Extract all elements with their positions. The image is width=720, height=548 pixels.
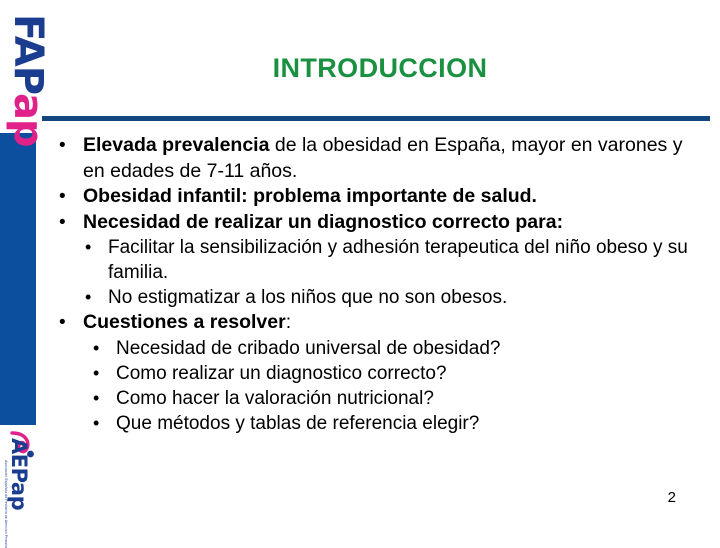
sub-bullet-text: Como realizar un diagnostico correcto?	[116, 363, 447, 384]
page-title: INTRODUCCION	[80, 53, 680, 84]
bullet-text-bold: Obesidad infantil: problema importante d…	[83, 185, 537, 207]
aepap-logo: AEPap Asociación Española de Pediatría d…	[0, 424, 37, 524]
bullet-item: • Necesidad de realizar un diagnostico c…	[48, 210, 708, 236]
bullet-marker: •	[85, 235, 91, 260]
sub-bullet-item: • Como hacer la valoración nutricional?	[81, 386, 708, 411]
bullet-text-regular: :	[286, 311, 291, 333]
bullet-list-level1: • Elevada prevalencia de la obesidad en …	[48, 133, 708, 436]
bullet-text: Cuestiones a resolver:	[83, 310, 708, 336]
bullet-marker: •	[85, 285, 91, 310]
fapap-logo-text-primary: FAP	[5, 14, 51, 93]
bullet-item: • Cuestiones a resolver:	[48, 310, 708, 336]
slide-body: • Elevada prevalencia de la obesidad en …	[48, 133, 708, 436]
fapap-logo: FAPap	[4, 14, 52, 142]
bullet-marker: •	[93, 336, 99, 361]
bullet-marker: •	[59, 184, 66, 210]
bullet-text-bold: Elevada prevalencia	[83, 134, 269, 156]
aepap-logo-subtitle: Asociación Española de Pediatría de Aten…	[4, 460, 8, 548]
title-divider	[42, 116, 710, 121]
aepap-logo-wrap: AEPap Asociación Española de Pediatría d…	[0, 424, 37, 524]
slide-canvas: FAPap AEPap Asociación Española de Pedia…	[0, 0, 720, 540]
bullet-text-bold: Necesidad de realizar un diagnostico cor…	[83, 211, 563, 233]
sub-bullet-item: • Facilitar la sensibilización y adhesió…	[73, 235, 708, 285]
page-number: 2	[668, 489, 676, 506]
sub-bullet-text: Facilitar la sensibilización y adhesión …	[108, 237, 688, 283]
bullet-text-bold: Cuestiones a resolver	[83, 311, 286, 333]
bullet-marker: •	[93, 411, 99, 436]
bullet-text: Obesidad infantil: problema importante d…	[83, 184, 708, 210]
sub-bullet-text: No estigmatizar a los niños que no son o…	[108, 287, 507, 308]
bullet-marker: •	[59, 210, 66, 236]
sub-bullet-text: Que métodos y tablas de referencia elegi…	[116, 413, 479, 434]
aepap-logo-text: AEPap	[8, 438, 29, 510]
bullet-item: • Elevada prevalencia de la obesidad en …	[48, 133, 708, 184]
bullet-text: Elevada prevalencia de la obesidad en Es…	[83, 133, 708, 184]
bullet-list-level2: • Facilitar la sensibilización y adhesió…	[48, 235, 708, 310]
sub-bullet-item: • No estigmatizar a los niños que no son…	[73, 285, 708, 310]
bullet-item: • Obesidad infantil: problema importante…	[48, 184, 708, 210]
bullet-text: Necesidad de realizar un diagnostico cor…	[83, 210, 708, 236]
bullet-marker: •	[59, 133, 66, 159]
bullet-marker: •	[59, 310, 66, 336]
left-blue-band	[0, 133, 36, 425]
bullet-marker: •	[93, 361, 99, 386]
sub-bullet-item: • Que métodos y tablas de referencia ele…	[81, 411, 708, 436]
sub-bullet-text: Necesidad de cribado universal de obesid…	[116, 338, 500, 359]
sub-bullet-text: Como hacer la valoración nutricional?	[116, 388, 434, 409]
sub-bullet-item: • Necesidad de cribado universal de obes…	[81, 336, 708, 361]
bullet-list-level2: • Necesidad de cribado universal de obes…	[48, 336, 708, 436]
sub-bullet-item: • Como realizar un diagnostico correcto?	[81, 361, 708, 386]
bullet-marker: •	[93, 386, 99, 411]
